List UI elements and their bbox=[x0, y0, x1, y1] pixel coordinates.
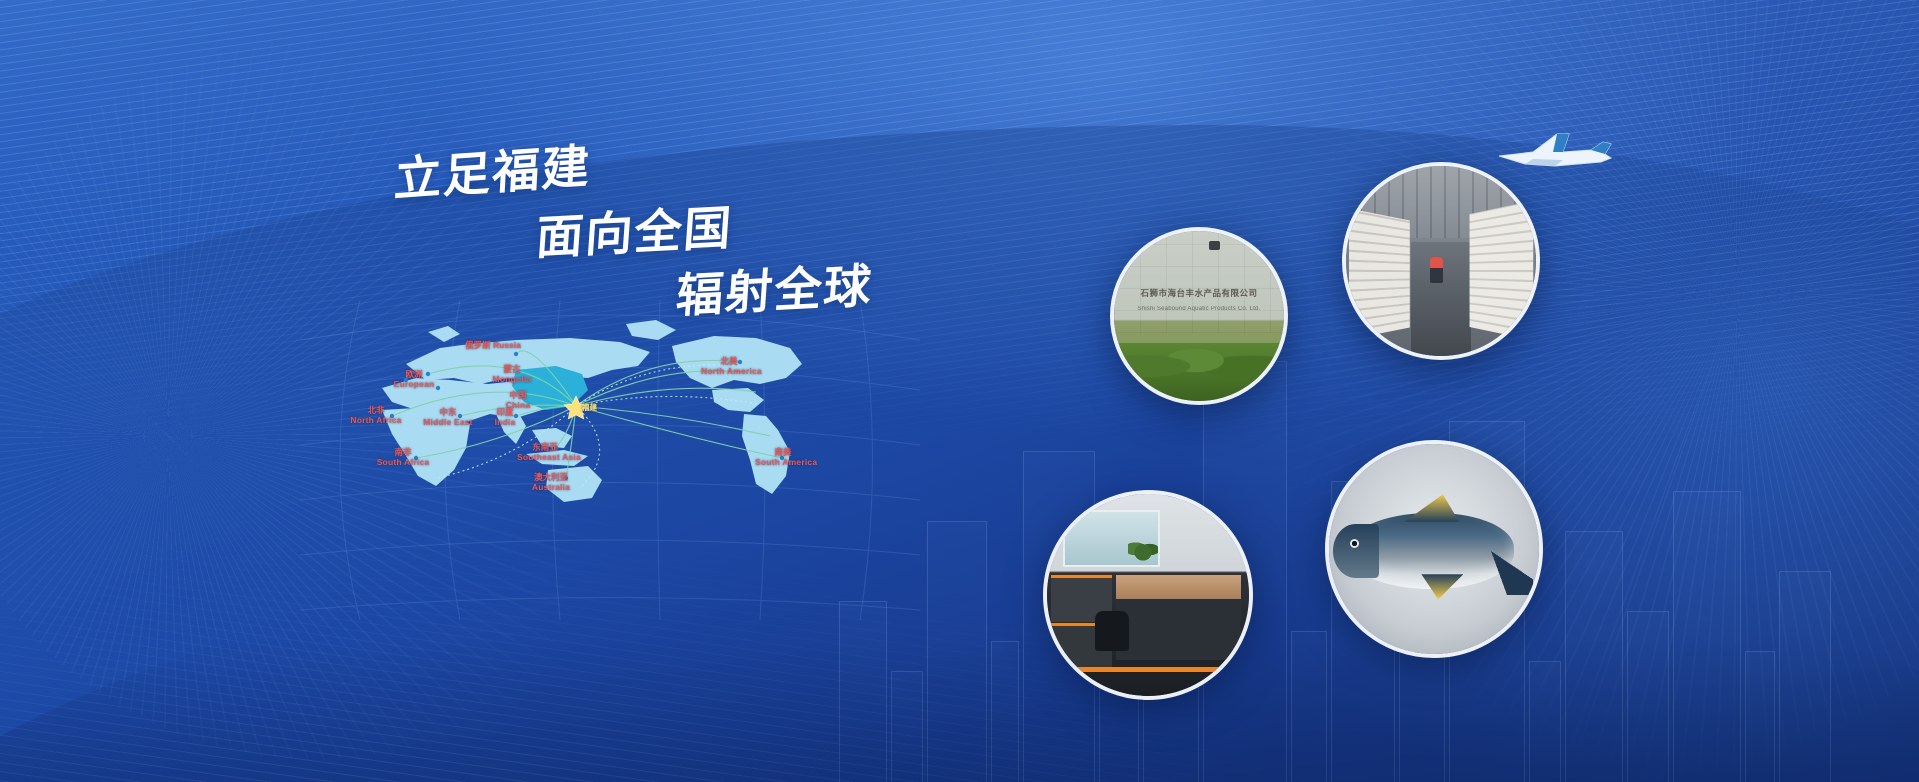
map-label-australia: 澳大利亚Australia bbox=[523, 473, 579, 492]
background-sweep-mid bbox=[0, 125, 1919, 672]
airplane-icon bbox=[1495, 126, 1615, 170]
photo-cold-storage-image bbox=[1346, 166, 1536, 356]
map-label-europe-en: European bbox=[386, 380, 442, 390]
facade-wall bbox=[1114, 231, 1284, 333]
cityscape-building bbox=[1673, 491, 1741, 782]
company-sign-chinese: 石狮市海台丰水产品有限公司 bbox=[1124, 287, 1274, 299]
map-label-india: 印度India bbox=[477, 408, 533, 427]
photo-office-interior[interactable] bbox=[1043, 490, 1253, 700]
company-sign-english: Shishi Seabound Aquatic Products Co. Ltd… bbox=[1121, 306, 1277, 312]
cityscape-building bbox=[891, 671, 923, 782]
promo-banner: 立足福建 面向全国 辐射全球 bbox=[0, 0, 1919, 782]
background-wire-mesh-right bbox=[1179, 0, 1919, 780]
cityscape-building bbox=[1565, 531, 1623, 782]
map-label-southeast-asia: 东南亚Southeast Asia bbox=[517, 443, 573, 462]
cityscape-building bbox=[1745, 651, 1775, 782]
map-label-middle-east-en: Middle East bbox=[420, 418, 476, 428]
stacked-cartons-left bbox=[1349, 209, 1410, 340]
stacked-cartons-right bbox=[1469, 200, 1533, 340]
background-hairlines-bottom bbox=[0, 407, 1919, 782]
map-label-south-africa: 南非South Africa bbox=[375, 448, 431, 467]
map-label-australia-en: Australia bbox=[523, 483, 579, 493]
map-label-middle-east: 中东Middle East bbox=[420, 408, 476, 427]
office-counter-base bbox=[1116, 599, 1241, 660]
map-label-southeast-asia-en: Southeast Asia bbox=[517, 453, 573, 463]
tuna-dorsal-fin bbox=[1405, 494, 1460, 521]
headline-line-3: 辐射全球 bbox=[674, 247, 875, 326]
office-accent-stripe bbox=[1047, 667, 1249, 672]
cityscape-building bbox=[839, 601, 887, 782]
photo-cold-storage[interactable] bbox=[1342, 162, 1540, 360]
map-label-south-america: 南美South America bbox=[755, 448, 811, 467]
map-label-north-africa-en: North Africa bbox=[348, 416, 404, 426]
cityscape-building bbox=[1529, 661, 1561, 782]
cityscape-building bbox=[1291, 631, 1327, 782]
map-label-europe: 欧洲European bbox=[386, 370, 442, 389]
photo-factory-facade-image: 石狮市海台丰水产品有限公司 Shishi Seabound Aquatic Pr… bbox=[1114, 231, 1284, 401]
map-label-mongolia-en: Mongolia bbox=[484, 375, 540, 385]
map-label-india-en: India bbox=[477, 418, 533, 428]
facade-hedge bbox=[1110, 343, 1288, 401]
map-label-south-africa-en: South Africa bbox=[375, 458, 431, 468]
cityscape-building bbox=[1627, 611, 1669, 782]
office-chair bbox=[1095, 611, 1129, 651]
map-label-russia: 俄罗斯 Russia bbox=[465, 340, 521, 351]
tuna-eye bbox=[1350, 539, 1359, 548]
headline-slogan: 立足福建 面向全国 辐射全球 bbox=[395, 128, 915, 308]
map-label-mongolia: 蒙古Mongolia bbox=[484, 365, 540, 384]
photo-tuna-fish[interactable] bbox=[1325, 440, 1543, 658]
background-decoration bbox=[0, 0, 1919, 782]
background-sweep-bottom bbox=[0, 532, 1919, 782]
cityscape-building bbox=[927, 521, 987, 782]
map-label-north-america-en: North America bbox=[701, 367, 757, 377]
office-counter-top bbox=[1116, 575, 1241, 599]
tuna-head bbox=[1333, 524, 1379, 579]
photo-tuna-fish-image bbox=[1329, 444, 1539, 654]
tuna-tail bbox=[1491, 507, 1533, 595]
background-hairlines-top bbox=[0, 0, 1919, 454]
map-label-north-america: 北美North America bbox=[701, 357, 757, 376]
office-plant bbox=[1128, 538, 1158, 562]
cityscape-building bbox=[991, 641, 1019, 782]
cityscape-building bbox=[1779, 571, 1831, 782]
photo-office-interior-image bbox=[1047, 494, 1249, 696]
photo-factory-facade[interactable]: 石狮市海台丰水产品有限公司 Shishi Seabound Aquatic Pr… bbox=[1110, 227, 1288, 405]
map-label-north-africa: 北非North Africa bbox=[348, 406, 404, 425]
map-label-fujian-hub: 福建 bbox=[582, 402, 597, 413]
map-label-south-america-en: South America bbox=[755, 458, 811, 468]
warehouse-worker bbox=[1430, 257, 1443, 283]
background-sweep-top bbox=[0, 0, 1919, 720]
world-map: 俄罗斯 Russia欧洲European蒙古Mongolia中国China北美N… bbox=[320, 318, 850, 558]
security-camera-icon bbox=[1209, 241, 1220, 250]
